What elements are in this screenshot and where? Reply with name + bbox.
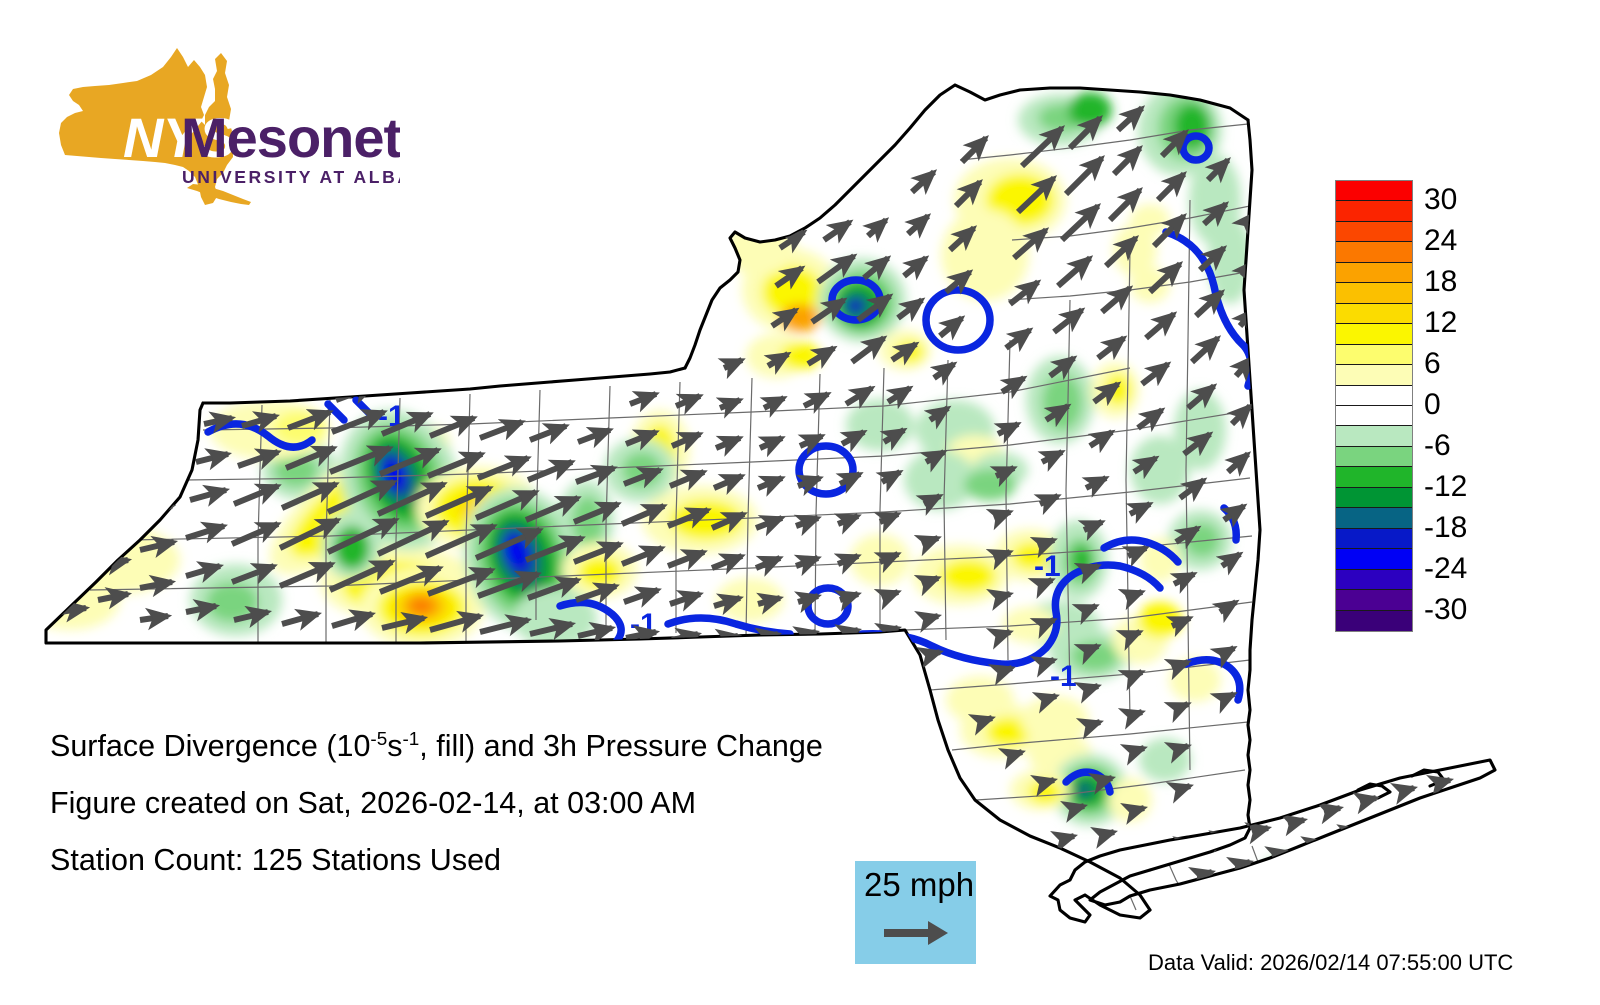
wind-speed-legend: 25 mph <box>855 861 976 964</box>
colorbar-band <box>1336 611 1412 631</box>
colorbar-tick-label: 0 <box>1424 390 1441 420</box>
colorbar-band <box>1336 529 1412 549</box>
wind-speed-legend-label: 25 mph <box>864 864 974 906</box>
colorbar-band <box>1336 590 1412 610</box>
colorbar-band <box>1336 365 1412 385</box>
figure-canvas: NYS Mesonet UNIVERSITY AT ALBANY <box>0 0 1600 1000</box>
colorbar-band <box>1336 386 1412 406</box>
colorbar-band <box>1336 467 1412 487</box>
colorbar-band <box>1336 242 1412 262</box>
colorbar-band <box>1336 345 1412 365</box>
colorbar-band <box>1336 324 1412 344</box>
colorbar-tick-label: -18 <box>1424 513 1467 543</box>
colorbar-tick-label: -6 <box>1424 431 1451 461</box>
contour-label: -1 <box>1034 550 1061 583</box>
contour-label: -1 <box>1050 660 1077 693</box>
colorbar-band <box>1336 263 1412 283</box>
caption-exponent-2: -1 <box>402 729 419 750</box>
caption-exponent-1: -5 <box>370 729 387 750</box>
colorbar-tick-label: 12 <box>1424 308 1457 338</box>
colorbar-tick-label: -24 <box>1424 554 1467 584</box>
caption-station-count-line: Station Count: 125 Stations Used <box>50 832 950 889</box>
colorbar-tick-labels: 3024181260-6-12-18-24-30 <box>1424 166 1544 646</box>
colorbar-band <box>1336 426 1412 446</box>
colorbar-band <box>1336 488 1412 508</box>
caption-title-prefix: Surface Divergence (10 <box>50 729 370 763</box>
colorbar-band <box>1336 570 1412 590</box>
caption-title-mid: s <box>387 729 402 763</box>
data-valid-timestamp: Data Valid: 2026/02/14 07:55:00 UTC <box>1148 950 1513 976</box>
caption-title-line: Surface Divergence (10-5s-1, fill) and 3… <box>50 718 950 775</box>
colorbar-band <box>1336 406 1412 426</box>
colorbar-tick-label: -30 <box>1424 595 1467 625</box>
divergence-colorbar <box>1335 180 1413 632</box>
colorbar-band <box>1336 181 1412 201</box>
wind-vector-reference-arrow <box>884 918 950 948</box>
colorbar-band <box>1336 549 1412 569</box>
colorbar-tick-label: 6 <box>1424 349 1441 379</box>
colorbar-band <box>1336 447 1412 467</box>
colorbar-tick-label: 18 <box>1424 267 1457 297</box>
colorbar-tick-label: 24 <box>1424 226 1457 256</box>
colorbar-band <box>1336 508 1412 528</box>
colorbar-tick-label: 30 <box>1424 185 1457 215</box>
colorbar-band <box>1336 201 1412 221</box>
colorbar-tick-label: -12 <box>1424 472 1467 502</box>
colorbar-band <box>1336 304 1412 324</box>
colorbar-band <box>1336 222 1412 242</box>
figure-caption: Surface Divergence (10-5s-1, fill) and 3… <box>50 718 950 889</box>
caption-title-suffix: , fill) and 3h Pressure Change <box>419 729 823 763</box>
caption-created-line: Figure created on Sat, 2026-02-14, at 03… <box>50 775 950 832</box>
colorbar-band <box>1336 283 1412 303</box>
